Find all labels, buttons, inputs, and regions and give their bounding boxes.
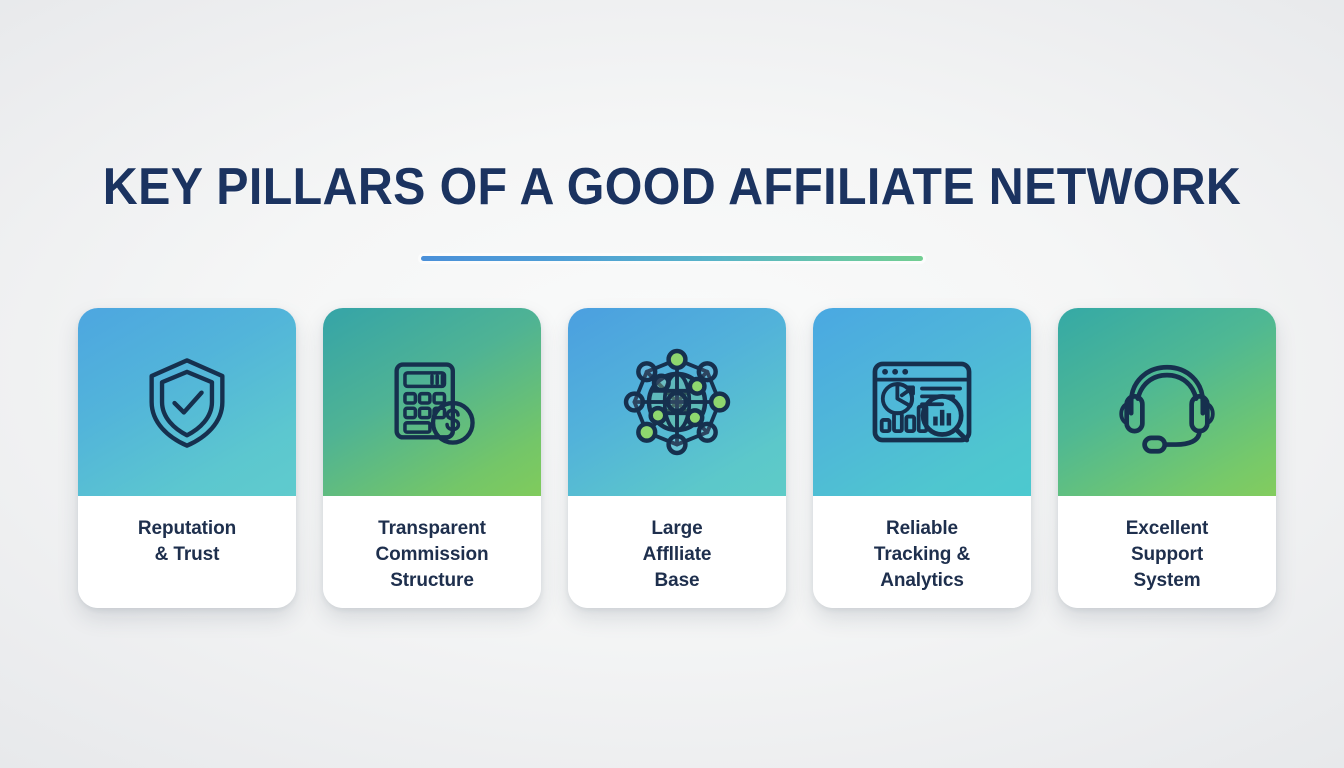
card-label: Reputation & Trust [130, 516, 244, 568]
card-label: Reliable Tracking & Analytics [866, 516, 978, 594]
title-block: KEY PILLARS OF A GOOD AFFILIATE NETWORK [0, 158, 1344, 216]
page-title: KEY PILLARS OF A GOOD AFFILIATE NETWORK [47, 158, 1297, 216]
pillar-card-reliable-tracking-analytics[interactable]: Reliable Tracking & Analytics [813, 308, 1031, 608]
pillar-card-row: Reputation & Trust [78, 308, 1276, 608]
card-icon-area [813, 308, 1031, 496]
pillar-card-reputation-trust[interactable]: Reputation & Trust [78, 308, 296, 608]
card-text-area: Reputation & Trust [78, 496, 296, 608]
title-divider [421, 256, 923, 261]
headset-support-icon [1111, 346, 1223, 458]
network-globe-icon [621, 346, 733, 458]
card-text-area: Large Afflliate Base [568, 496, 786, 608]
pillar-card-transparent-commission-structure[interactable]: Transparent Commission Structure [323, 308, 541, 608]
card-text-area: Excellent Support System [1058, 496, 1276, 608]
card-label: Large Afflliate Base [635, 516, 720, 594]
card-label: Excellent Support System [1118, 516, 1217, 594]
card-icon-area [1058, 308, 1276, 496]
card-icon-area [568, 308, 786, 496]
analytics-dashboard-icon [866, 346, 978, 458]
pillar-card-large-affiliate-base[interactable]: Large Afflliate Base [568, 308, 786, 608]
card-label: Transparent Commission Structure [367, 516, 496, 594]
card-icon-area [323, 308, 541, 496]
card-icon-area [78, 308, 296, 496]
shield-check-icon [135, 350, 239, 454]
infographic-stage: KEY PILLARS OF A GOOD AFFILIATE NETWORK … [0, 0, 1344, 768]
calculator-dollar-icon [380, 350, 484, 454]
card-text-area: Reliable Tracking & Analytics [813, 496, 1031, 608]
pillar-card-excellent-support-system[interactable]: Excellent Support System [1058, 308, 1276, 608]
card-text-area: Transparent Commission Structure [323, 496, 541, 608]
